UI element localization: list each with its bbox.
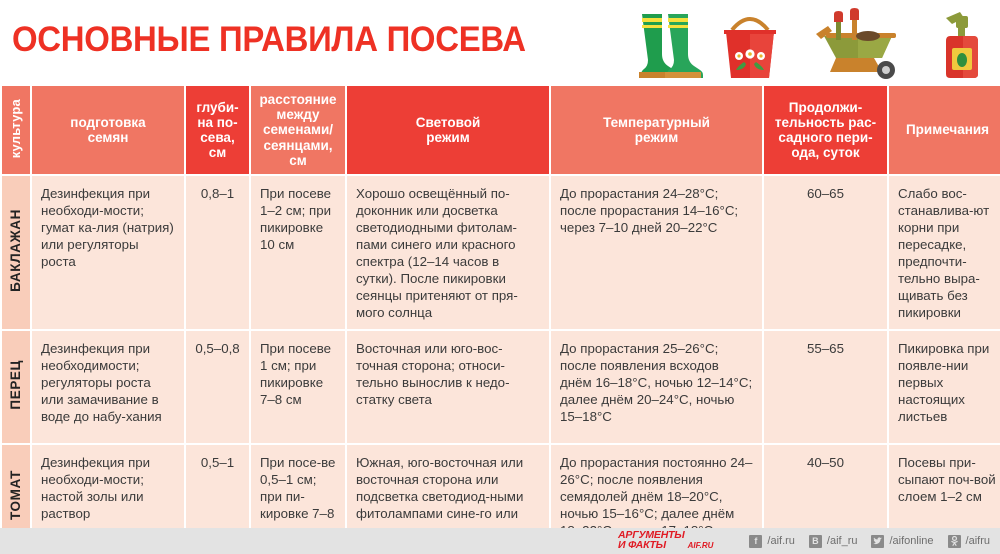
col-header-light: Световой режим xyxy=(347,86,549,174)
bucket-icon xyxy=(724,19,776,78)
col-header-duration: Продолжи- тельность рас- садного пери- о… xyxy=(764,86,887,174)
rubber-boots-icon xyxy=(639,14,703,78)
cell-notes: Слабо вос-станавлива-ют корни при переса… xyxy=(889,176,1000,329)
cell-seed-prep: Дезинфекция при необходи-мости; гумат ка… xyxy=(32,176,184,329)
cell-notes: Пикировка при появле-нии первых настоящи… xyxy=(889,331,1000,443)
col-header-seed-prep: подготовка семян xyxy=(32,86,184,174)
cell-spacing: При посеве 1–2 см; при пикировке 10 см xyxy=(251,176,345,329)
cell-temperature: До прорастания 25–26°C; после появления … xyxy=(551,331,762,443)
cell-depth: 0,8–1 xyxy=(186,176,249,329)
social-link-facebook[interactable]: f /aif.ru xyxy=(749,535,795,548)
cell-light: Восточная или юго-вос-точная сторона; от… xyxy=(347,331,549,443)
aif-logo-wordmark: АРГУМЕНТЫ И ФАКТЫ xyxy=(618,531,685,550)
sowing-rules-table: культура подготовка семян глуби- на по- … xyxy=(0,84,1000,550)
cell-temperature: До прорастания 24–28°C; после прорастани… xyxy=(551,176,762,329)
social-link-twitter[interactable]: /aifonline xyxy=(871,535,933,548)
page-title: ОСНОВНЫЕ ПРАВИЛА ПОСЕВА xyxy=(12,20,526,60)
row-culture-label: ПЕРЕЦ xyxy=(7,360,24,410)
page-footer: АРГУМЕНТЫ И ФАКТЫ AIF.RU f /aif.ru B /ai… xyxy=(0,528,1000,554)
twitter-icon xyxy=(871,535,884,548)
social-link-odnoklassniki[interactable]: /aifru xyxy=(948,535,990,548)
row-culture-label: БАКЛАЖАН xyxy=(7,209,24,292)
row-culture-label: ТОМАТ xyxy=(7,470,24,520)
aif-logo-domain: AIF.RU xyxy=(688,541,714,551)
odnoklassniki-icon xyxy=(948,535,961,548)
page-header: ОСНОВНЫЕ ПРАВИЛА ПОСЕВА xyxy=(0,0,1000,84)
cell-spacing: При посеве 1 см; при пикировке 7–8 см xyxy=(251,331,345,443)
cell-duration: 55–65 xyxy=(764,331,887,443)
table-row: ПЕРЕЦ Дезинфекция при необходимости; рег… xyxy=(2,331,1000,443)
cell-duration: 60–65 xyxy=(764,176,887,329)
wheelbarrow-icon xyxy=(816,8,896,79)
row-culture: ПЕРЕЦ xyxy=(2,331,30,443)
aif-logo-line2: И ФАКТЫ xyxy=(618,541,685,551)
col-header-temperature: Температурный режим xyxy=(551,86,762,174)
col-header-culture: культура xyxy=(2,86,30,174)
col-header-depth: глуби- на по- сева, см xyxy=(186,86,249,174)
facebook-icon: f xyxy=(749,535,762,548)
cell-seed-prep: Дезинфекция при необходимости; регулятор… xyxy=(32,331,184,443)
social-link-vk[interactable]: B /aif_ru xyxy=(809,535,858,548)
col-header-spacing: расстояние между семенами/ сеянцами, см xyxy=(251,86,345,174)
header-decorations xyxy=(620,0,1000,84)
row-culture: БАКЛАЖАН xyxy=(2,176,30,329)
social-handle-facebook: /aif.ru xyxy=(767,535,795,547)
vk-icon: B xyxy=(809,535,822,548)
social-handle-twitter: /aifonline xyxy=(889,535,933,547)
cell-light: Хорошо освещённый по-доконник или досвет… xyxy=(347,176,549,329)
table-header-row: культура подготовка семян глуби- на по- … xyxy=(2,86,1000,174)
spray-bottle-icon xyxy=(946,12,978,78)
social-handle-vk: /aif_ru xyxy=(827,535,858,547)
social-handle-odnoklassniki: /aifru xyxy=(966,535,990,547)
table-row: БАКЛАЖАН Дезинфекция при необходи-мости;… xyxy=(2,176,1000,329)
col-header-culture-label: культура xyxy=(9,99,24,158)
col-header-notes: Примечания xyxy=(889,86,1000,174)
cell-depth: 0,5–0,8 xyxy=(186,331,249,443)
aif-logo[interactable]: АРГУМЕНТЫ И ФАКТЫ AIF.RU xyxy=(618,531,713,550)
